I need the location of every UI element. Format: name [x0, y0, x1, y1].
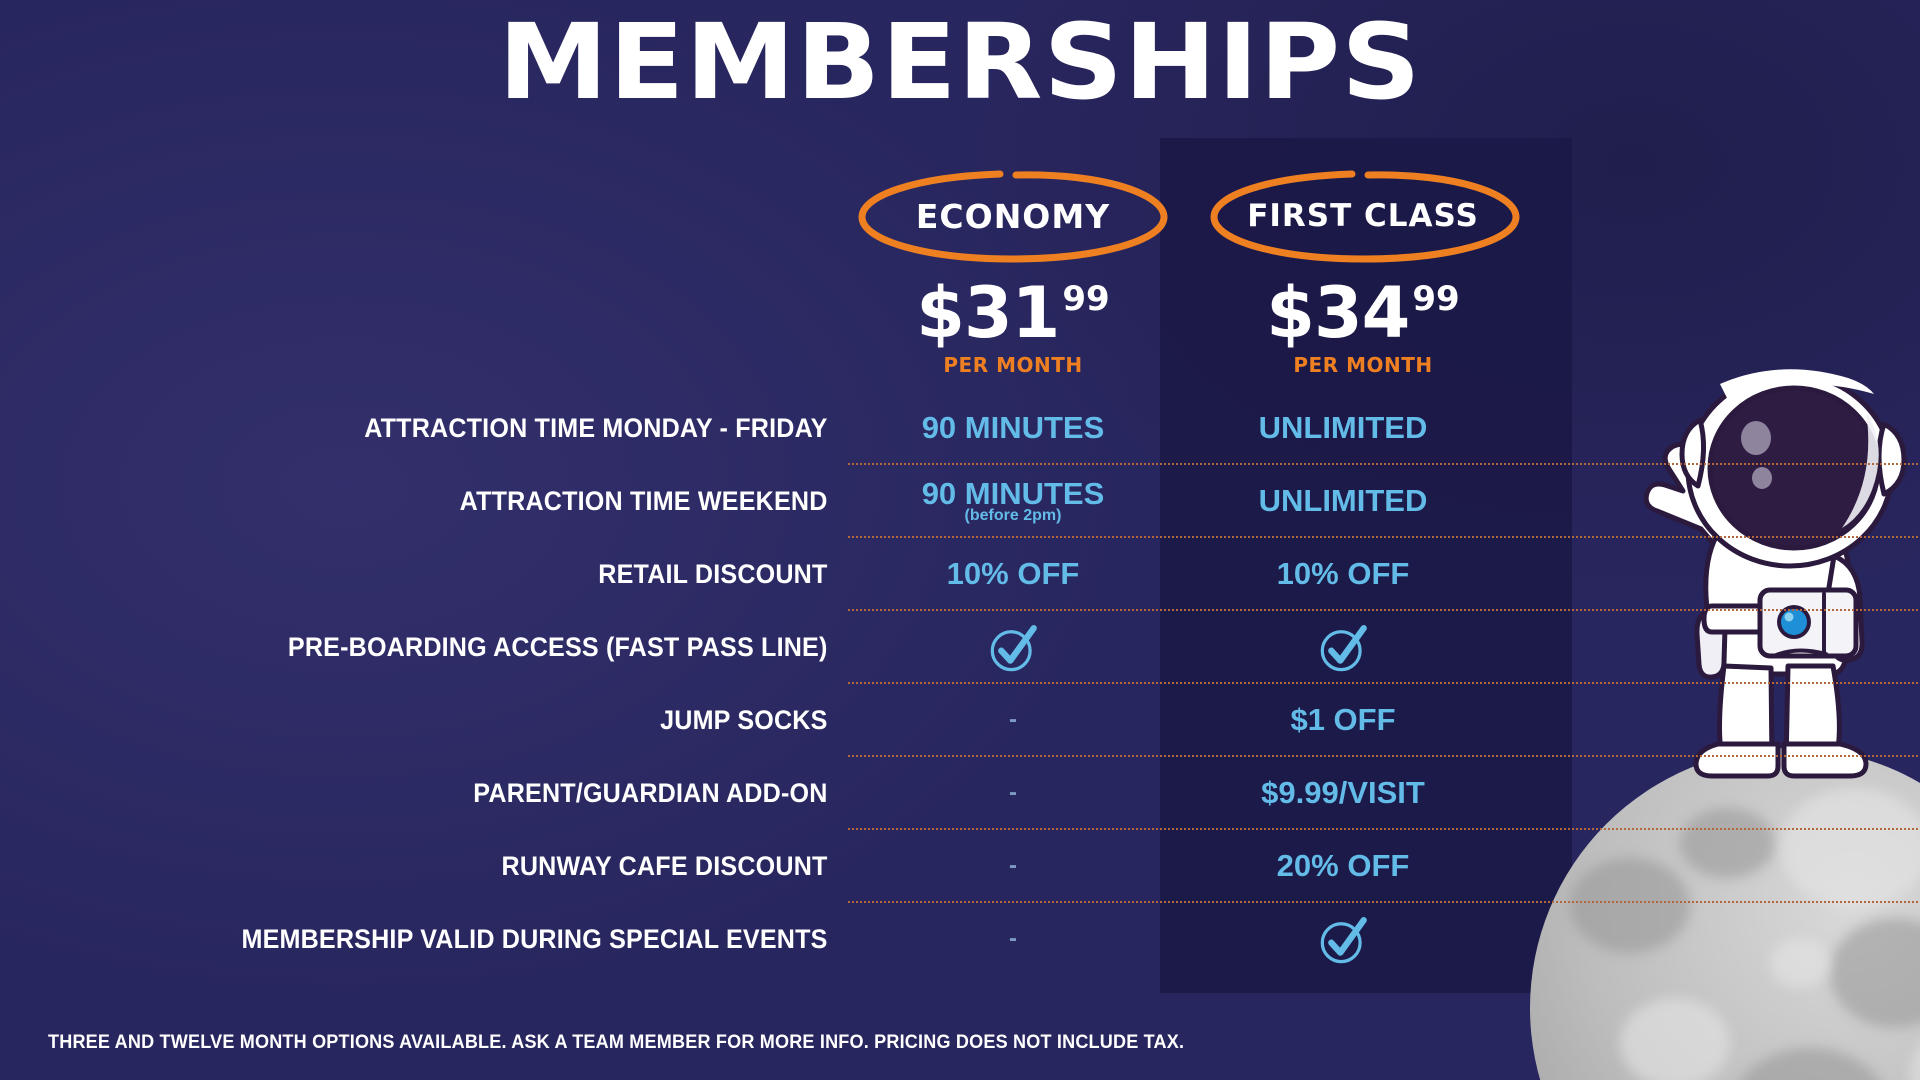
feature-label: RUNWAY CAFE DISCOUNT — [59, 851, 848, 882]
table-row: ATTRACTION TIME WEEKEND90 MINUTES(before… — [0, 465, 1572, 538]
plan-economy-per-month: PER MONTH — [848, 353, 1178, 377]
feature-label: PARENT/GUARDIAN ADD-ON — [59, 778, 848, 809]
feature-value-first-class — [1178, 621, 1508, 675]
feature-value-first-class: $1 OFF — [1178, 704, 1508, 736]
table-row: MEMBERSHIP VALID DURING SPECIAL EVENTS- — [0, 903, 1572, 976]
feature-value-economy: - — [848, 927, 1178, 952]
table-row: ATTRACTION TIME MONDAY - FRIDAY90 MINUTE… — [0, 392, 1572, 465]
table-row: PRE-BOARDING ACCESS (FAST PASS LINE) — [0, 611, 1572, 684]
feature-value-first-class — [1178, 913, 1508, 967]
table-row: RUNWAY CAFE DISCOUNT-20% OFF — [0, 830, 1572, 903]
page-title: MEMBERSHIPS — [0, 8, 1920, 117]
table-row: JUMP SOCKS-$1 OFF — [0, 684, 1572, 757]
feature-value-first-class: 20% OFF — [1178, 850, 1508, 882]
plan-first-class-badge: FIRST CLASS — [1198, 172, 1528, 260]
table-row: RETAIL DISCOUNT10% OFF10% OFF — [0, 538, 1572, 611]
table-row: PARENT/GUARDIAN ADD-ON-$9.99/VISIT — [0, 757, 1572, 830]
moon-illustration — [1530, 748, 1920, 1080]
plan-economy[interactable]: ECONOMY $31 99 PER MONTH — [848, 172, 1178, 377]
feature-value-economy — [848, 621, 1178, 675]
astronaut-illustration — [1628, 360, 1920, 780]
feature-label: PRE-BOARDING ACCESS (FAST PASS LINE) — [59, 632, 848, 663]
feature-label: ATTRACTION TIME WEEKEND — [59, 486, 848, 517]
feature-value-first-class: 10% OFF — [1178, 558, 1508, 590]
plan-first-class-name: FIRST CLASS — [1247, 198, 1479, 234]
feature-value-economy: - — [848, 854, 1178, 879]
feature-label: JUMP SOCKS — [59, 705, 848, 736]
feature-value-economy: - — [848, 781, 1178, 806]
check-circle-icon — [1316, 913, 1370, 967]
feature-label: MEMBERSHIP VALID DURING SPECIAL EVENTS — [59, 924, 848, 955]
feature-value-economy: 90 MINUTES(before 2pm) — [848, 478, 1178, 525]
feature-value-note: (before 2pm) — [848, 508, 1178, 525]
feature-value-economy: - — [848, 708, 1178, 733]
feature-label: ATTRACTION TIME MONDAY - FRIDAY — [59, 413, 848, 444]
plan-first-class-price-main: $34 — [1266, 278, 1409, 348]
plan-first-class-per-month: PER MONTH — [1198, 353, 1528, 377]
feature-value-economy: 90 MINUTES — [848, 412, 1178, 444]
feature-value-first-class: $9.99/VISIT — [1178, 777, 1508, 809]
check-circle-icon — [1316, 621, 1370, 675]
plan-economy-name: ECONOMY — [916, 197, 1110, 236]
plan-economy-price: $31 99 — [848, 278, 1178, 348]
feature-comparison-table: ATTRACTION TIME MONDAY - FRIDAY90 MINUTE… — [0, 392, 1572, 976]
feature-label: RETAIL DISCOUNT — [59, 559, 848, 590]
plan-first-class-price: $34 99 — [1198, 278, 1528, 348]
plan-economy-badge: ECONOMY — [848, 172, 1178, 260]
plan-first-class[interactable]: FIRST CLASS $34 99 PER MONTH — [1198, 172, 1528, 377]
check-circle-icon — [986, 621, 1040, 675]
feature-value-economy: 10% OFF — [848, 558, 1178, 590]
plan-economy-price-cents: 99 — [1062, 282, 1109, 316]
footer-note: THREE AND TWELVE MONTH OPTIONS AVAILABLE… — [48, 1032, 1184, 1054]
feature-value-first-class: UNLIMITED — [1178, 412, 1508, 444]
feature-value-first-class: UNLIMITED — [1178, 485, 1508, 517]
plan-first-class-price-cents: 99 — [1412, 282, 1459, 316]
plan-economy-price-main: $31 — [916, 278, 1059, 348]
